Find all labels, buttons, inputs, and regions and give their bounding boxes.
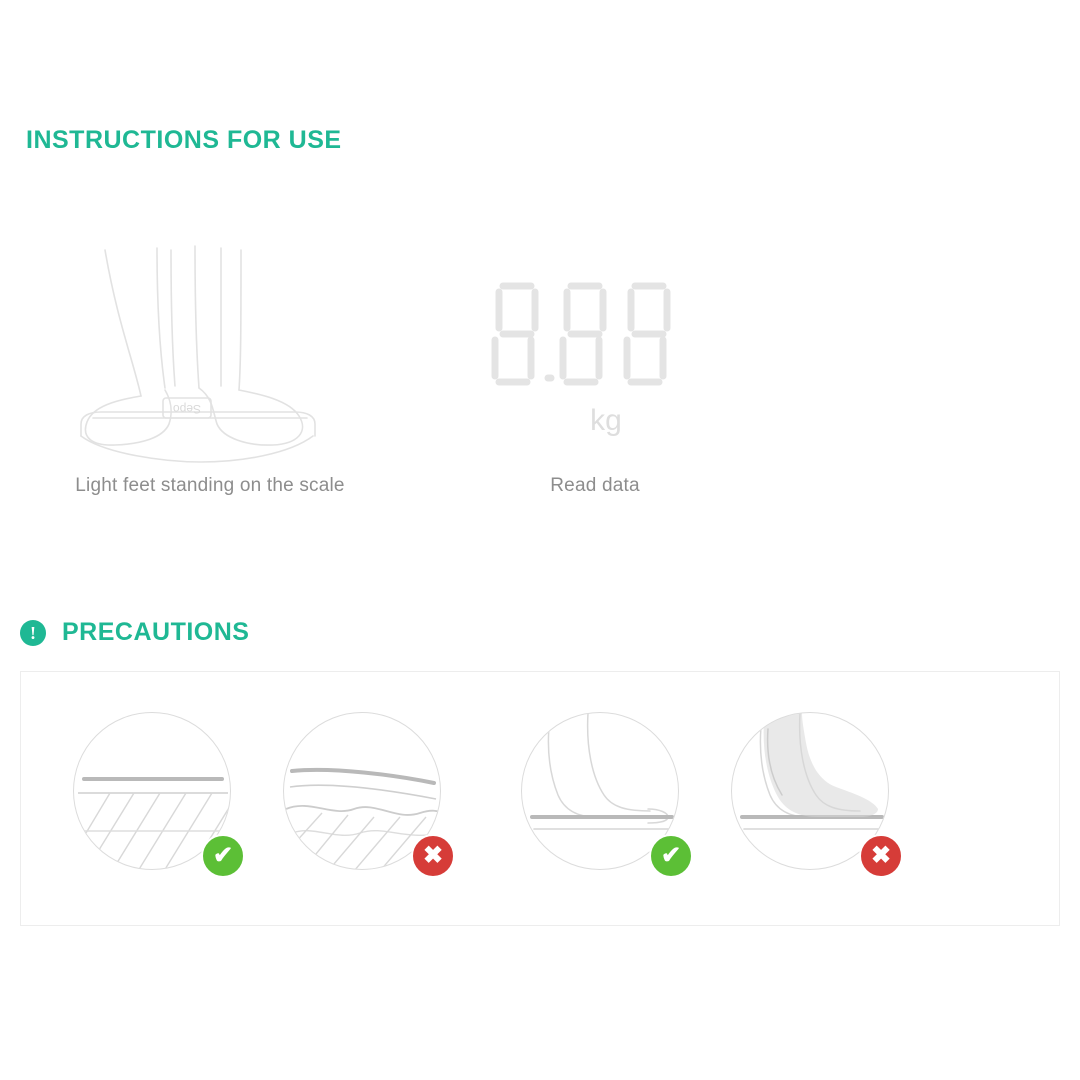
precaution-socks-feet: ✖ xyxy=(731,712,891,872)
instruction-caption-read-data: Read data xyxy=(430,475,760,497)
cross-icon: ✖ xyxy=(859,834,903,878)
scale-brand-text: Sepo xyxy=(173,402,201,416)
instruction-caption-feet-on-scale: Light feet standing on the scale xyxy=(45,475,375,497)
instruction-step-read-data: kg Read data xyxy=(430,210,760,497)
precaution-soft-carpet-floor: ✖ xyxy=(283,712,443,872)
instructions-section-title: INSTRUCTIONS FOR USE xyxy=(26,126,342,155)
instructions-steps-row: Sepo Light feet standing on the scale xyxy=(0,210,1080,540)
feet-standing-on-scale-illustration: Sepo xyxy=(45,210,375,475)
cross-icon: ✖ xyxy=(411,834,455,878)
exclamation-icon: ! xyxy=(20,620,46,646)
sock-shape xyxy=(764,713,878,817)
instruction-step-feet-on-scale: Sepo Light feet standing on the scale xyxy=(45,210,375,497)
precaution-hard-flat-floor: ✔ xyxy=(73,712,233,872)
precautions-panel: ✔ ✖ xyxy=(20,671,1060,926)
precautions-section-title: PRECAUTIONS xyxy=(62,618,249,647)
lcd-display-illustration: kg xyxy=(430,210,760,475)
check-icon: ✔ xyxy=(201,834,245,878)
precaution-bare-feet: ✔ xyxy=(521,712,681,872)
display-unit-label: kg xyxy=(590,404,622,437)
check-icon: ✔ xyxy=(649,834,693,878)
